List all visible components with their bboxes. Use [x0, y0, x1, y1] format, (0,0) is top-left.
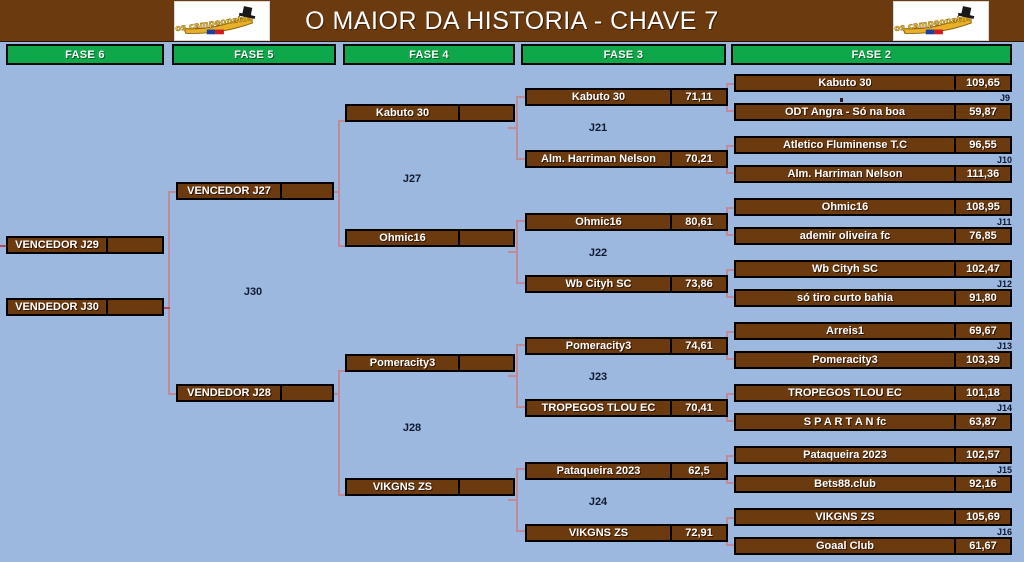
match-box-fase2-13[interactable]: Pataqueira 2023 102,57: [734, 446, 1012, 464]
connector: [726, 482, 734, 484]
connector: [726, 331, 734, 333]
match-box-fase3-2[interactable]: Alm. Harriman Nelson 70,21: [525, 150, 728, 168]
connector: [516, 96, 525, 98]
connector: [726, 517, 734, 519]
match-box-fase2-6[interactable]: ademir oliveira fc 76,85: [734, 227, 1012, 245]
team-name: Alm. Harriman Nelson: [736, 167, 954, 181]
match-box-fase2-11[interactable]: TROPEGOS TLOU EC 101,18: [734, 384, 1012, 402]
connector: [726, 110, 734, 112]
team-score: 96,55: [954, 138, 1010, 152]
connector: [516, 406, 525, 408]
team-name: Bets88.club: [736, 477, 954, 491]
connector: [726, 358, 734, 360]
team-score: 111,36: [954, 167, 1010, 181]
team-score: 102,47: [954, 262, 1010, 276]
connector: [726, 172, 734, 174]
connector: [508, 127, 517, 129]
team-score: 92,16: [954, 477, 1010, 491]
connector: [508, 499, 517, 501]
team-score: 101,18: [954, 386, 1010, 400]
connector: [726, 296, 734, 298]
team-score: [458, 480, 513, 494]
match-box-fase2-15[interactable]: VIKGNS ZS 105,69: [734, 508, 1012, 526]
game-label-j28: J28: [403, 422, 421, 434]
title-bar: O MAIOR DA HISTORIA - CHAVE 7: [0, 0, 1024, 42]
game-label-j22: J22: [589, 247, 607, 259]
team-name: TROPEGOS TLOU EC: [527, 401, 670, 415]
connector: [338, 370, 340, 495]
team-score: [458, 356, 513, 370]
team-score: [458, 106, 513, 120]
team-score: [106, 238, 162, 252]
team-name: Wb Cityh SC: [736, 262, 954, 276]
team-name: Ohmic16: [347, 231, 458, 245]
connector: [508, 375, 517, 377]
connector: [516, 158, 525, 160]
game-label-j14: J14: [997, 403, 1012, 413]
team-name: Atletico Fluminense T.C: [736, 138, 954, 152]
match-box-fase2-7[interactable]: Wb Cityh SC 102,47: [734, 260, 1012, 278]
team-score: 62,5: [670, 464, 726, 478]
team-name: Ohmic16: [527, 215, 670, 229]
team-score: 72,91: [670, 526, 726, 540]
match-box-fase3-1[interactable]: Kabuto 30 71,11: [525, 88, 728, 106]
team-score: 105,69: [954, 510, 1010, 524]
match-box-fase3-5[interactable]: Pomeracity3 74,61: [525, 337, 728, 355]
team-score: 73,86: [670, 277, 726, 291]
connector: [516, 468, 525, 470]
team-name: Pataqueira 2023: [527, 464, 670, 478]
match-box-fase6-2[interactable]: VENDEDOR J30: [6, 298, 164, 316]
phase-header-fase3: FASE 3: [521, 44, 726, 65]
team-name: Wb Cityh SC: [527, 277, 670, 291]
team-name: Pomeracity3: [736, 353, 954, 367]
match-box-fase2-16[interactable]: Goaal Club 61,67: [734, 537, 1012, 555]
team-score: [106, 300, 162, 314]
team-name: ademir oliveira fc: [736, 229, 954, 243]
team-name: VIKGNS ZS: [527, 526, 670, 540]
team-name: S P A R T A N fc: [736, 415, 954, 429]
team-name: VIKGNS ZS: [347, 480, 458, 494]
game-label-j10: J10: [997, 155, 1012, 165]
game-label-j21: J21: [589, 122, 607, 134]
team-score: 109,65: [954, 76, 1010, 90]
match-box-fase2-5[interactable]: Ohmic16 108,95: [734, 198, 1012, 216]
match-box-fase2-14[interactable]: Bets88.club 92,16: [734, 475, 1012, 493]
team-name: Arreis1: [736, 324, 954, 338]
team-name: Pomeracity3: [527, 339, 670, 353]
match-box-fase3-7[interactable]: Pataqueira 2023 62,5: [525, 462, 728, 480]
bracket-page: O MAIOR DA HISTORIA - CHAVE 7 os campeon…: [0, 0, 1024, 562]
connector: [168, 191, 170, 394]
team-score: 69,67: [954, 324, 1010, 338]
pixel-artifact: [840, 98, 843, 102]
team-score: 70,21: [670, 152, 726, 166]
team-name: TROPEGOS TLOU EC: [736, 386, 954, 400]
logo-right: os campeonatos: [893, 1, 989, 41]
connector: [726, 145, 734, 147]
logo-left: os campeonatos: [174, 1, 270, 41]
team-name: ODT Angra - Só na boa: [736, 105, 954, 119]
team-name: Kabuto 30: [736, 76, 954, 90]
game-label-j16: J16: [997, 527, 1012, 537]
team-name: só tiro curto bahia: [736, 291, 954, 305]
team-score: 108,95: [954, 200, 1010, 214]
team-score: 74,61: [670, 339, 726, 353]
connector: [516, 220, 525, 222]
team-name: Kabuto 30: [347, 106, 458, 120]
match-box-fase5-2[interactable]: VENDEDOR J28: [176, 384, 334, 402]
team-score: 61,67: [954, 539, 1010, 553]
game-label-j13: J13: [997, 341, 1012, 351]
campeonatos-logo-icon: os campeonatos: [894, 2, 988, 40]
team-score: 59,87: [954, 105, 1010, 119]
game-label-j27: J27: [403, 173, 421, 185]
campeonatos-logo-icon: os campeonatos: [175, 2, 269, 40]
match-box-fase6-1[interactable]: VENCEDOR J29: [6, 236, 164, 254]
connector: [726, 544, 734, 546]
team-name: Alm. Harriman Nelson: [527, 152, 670, 166]
team-score: 102,57: [954, 448, 1010, 462]
game-label-j30: J30: [244, 286, 262, 298]
match-box-fase2-12[interactable]: S P A R T A N fc 63,87: [734, 413, 1012, 431]
game-label-j15: J15: [997, 465, 1012, 475]
match-box-fase2-1[interactable]: Kabuto 30 109,65: [734, 74, 1012, 92]
phase-header-fase5: FASE 5: [172, 44, 336, 65]
match-box-fase4-3[interactable]: Pomeracity3: [345, 354, 515, 372]
game-label-j11: J11: [997, 217, 1012, 227]
connector: [726, 393, 734, 395]
match-box-fase2-10[interactable]: Pomeracity3 103,39: [734, 351, 1012, 369]
connector: [726, 234, 734, 236]
team-score: [280, 184, 332, 198]
team-name: VENDEDOR J30: [8, 300, 106, 314]
phase-header-fase6: FASE 6: [6, 44, 164, 65]
match-box-fase2-8[interactable]: só tiro curto bahia 91,80: [734, 289, 1012, 307]
match-box-fase2-2[interactable]: ODT Angra - Só na boa 59,87: [734, 103, 1012, 121]
connector: [338, 120, 340, 246]
match-box-fase4-1[interactable]: Kabuto 30: [345, 104, 515, 122]
connector: [516, 530, 525, 532]
connector: [726, 83, 734, 85]
team-name: VENCEDOR J27: [178, 184, 280, 198]
match-box-fase5-1[interactable]: VENCEDOR J27: [176, 182, 334, 200]
match-box-fase2-4[interactable]: Alm. Harriman Nelson 111,36: [734, 165, 1012, 183]
team-name: Pomeracity3: [347, 356, 458, 370]
team-score: 103,39: [954, 353, 1010, 367]
match-box-fase3-8[interactable]: VIKGNS ZS 72,91: [525, 524, 728, 542]
team-name: VIKGNS ZS: [736, 510, 954, 524]
connector: [726, 420, 734, 422]
team-score: 71,11: [670, 90, 726, 104]
connector: [516, 344, 525, 346]
connector: [516, 282, 525, 284]
team-name: Kabuto 30: [527, 90, 670, 104]
connector: [726, 207, 734, 209]
team-score: 80,61: [670, 215, 726, 229]
game-label-j23: J23: [589, 371, 607, 383]
match-box-fase3-6[interactable]: TROPEGOS TLOU EC 70,41: [525, 399, 728, 417]
match-box-fase4-4[interactable]: VIKGNS ZS: [345, 478, 515, 496]
team-name: Goaal Club: [736, 539, 954, 553]
team-name: VENDEDOR J28: [178, 386, 280, 400]
phase-header-fase2: FASE 2: [731, 44, 1012, 65]
team-score: 70,41: [670, 401, 726, 415]
game-label-j24: J24: [589, 496, 607, 508]
match-box-fase4-2[interactable]: Ohmic16: [345, 229, 515, 247]
connector: [508, 251, 517, 253]
match-box-fase2-3[interactable]: Atletico Fluminense T.C 96,55: [734, 136, 1012, 154]
team-score: 91,80: [954, 291, 1010, 305]
phase-header-fase4: FASE 4: [343, 44, 515, 65]
connector: [726, 269, 734, 271]
team-name: Ohmic16: [736, 200, 954, 214]
team-score: [458, 231, 513, 245]
match-box-fase3-4[interactable]: Wb Cityh SC 73,86: [525, 275, 728, 293]
team-name: Pataqueira 2023: [736, 448, 954, 462]
match-box-fase3-3[interactable]: Ohmic16 80,61: [525, 213, 728, 231]
game-label-j12: J12: [997, 279, 1012, 289]
game-label-j9: J9: [1000, 93, 1010, 103]
team-score: 76,85: [954, 229, 1010, 243]
team-name: VENCEDOR J29: [8, 238, 106, 252]
match-box-fase2-9[interactable]: Arreis1 69,67: [734, 322, 1012, 340]
page-title: O MAIOR DA HISTORIA - CHAVE 7: [0, 0, 1024, 42]
team-score: [280, 386, 332, 400]
connector: [726, 455, 734, 457]
team-score: 63,87: [954, 415, 1010, 429]
